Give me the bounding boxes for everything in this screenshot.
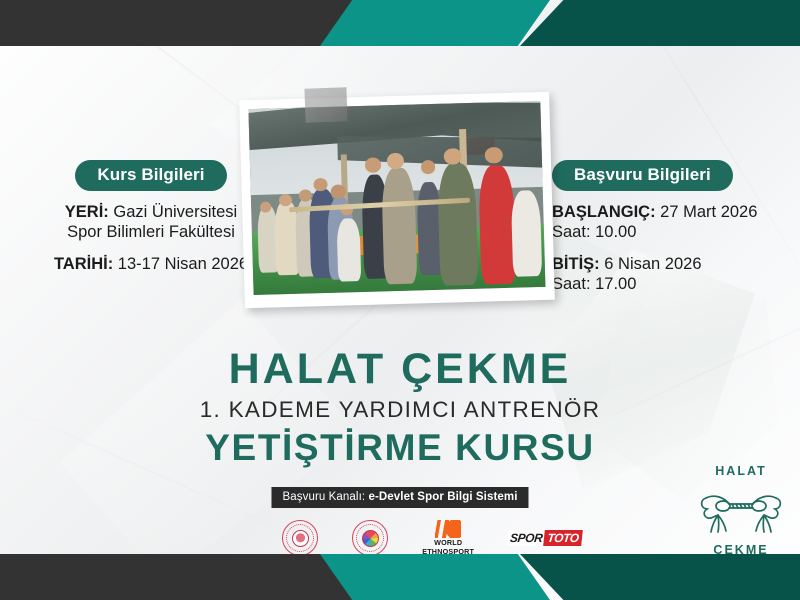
photo-person-head [387,153,404,169]
course-info-row: Spor Bilimleri Fakültesi [26,222,276,242]
photo-person [382,168,417,284]
course-info-row: TARİHİ: 13-17 Nisan 2026 [26,254,276,274]
application-info-value: Saat: 10.00 [552,223,636,241]
photo-person-head [331,185,346,199]
halat-cekme-emblem: HALAT ÇEKME [694,462,788,558]
ministry-logo-inner [292,530,309,547]
bar-segment-teal [320,0,550,46]
bar-segment-teal [320,554,550,600]
emblem-top-text: HALAT [694,464,788,478]
application-info-key: BAŞLANGIÇ: [552,203,656,221]
photo-person [478,165,516,285]
bottom-chevron-bar [0,554,800,600]
event-photo [248,101,545,295]
application-info-rows: BAŞLANGIÇ: 27 Mart 2026 Saat: 10.00 BİTİ… [552,202,800,295]
photo-tape [304,87,347,122]
rope-knot-icon [698,488,784,534]
photo-person-head [485,147,503,164]
page-title: HALAT ÇEKME [0,348,800,392]
course-info-badge: Kurs Bilgileri [75,160,226,191]
application-info-row: Saat: 10.00 [552,222,800,242]
ethnosport-comet-icon [435,520,461,538]
application-info-value: Saat: 17.00 [552,275,636,293]
title-third-line: YETİŞTİRME KURSU [0,428,800,467]
world-ethnosport-logo: WORLD ETHNOSPORT [422,520,474,555]
poster-root: Kurs Bilgileri YERİ: Gazi Üniversitesi S… [0,0,800,600]
course-info-row: YERİ: Gazi Üniversitesi [26,202,276,222]
application-info-value: 27 Mart 2026 [660,203,757,221]
photo-person [511,190,543,276]
application-info-row: BİTİŞ: 6 Nisan 2026 [552,254,800,274]
application-channel-bar: Başvuru Kanalı: e-Devlet Spor Bilgi Sist… [271,487,528,508]
course-info-value: Spor Bilimleri Fakültesi [67,223,235,241]
course-info-rows: YERİ: Gazi Üniversitesi Spor Bilimleri F… [26,202,276,274]
photo-person-head [365,158,381,173]
photo-person-head [421,160,436,174]
course-info-panel: Kurs Bilgileri YERİ: Gazi Üniversitesi S… [26,160,276,274]
course-info-value: Gazi Üniversitesi [113,203,237,221]
spacer [26,242,276,254]
application-info-row: BAŞLANGIÇ: 27 Mart 2026 [552,202,800,222]
bar-segment-teal-dark [520,554,800,600]
application-channel-label: Başvuru Kanalı: [282,491,365,503]
application-info-key: BİTİŞ: [552,255,600,273]
ethnosport-label-line1: WORLD [434,539,462,547]
spor-toto-label-b: TOTO [544,530,583,546]
federation-logo [352,520,388,556]
course-info-value: 13-17 Nisan 2026 [118,255,248,273]
bar-segment-teal-dark [520,0,800,46]
title-block: HALAT ÇEKME 1. KADEME YARDIMCI ANTRENÖR … [0,348,800,467]
application-channel-value: e-Devlet Spor Bilgi Sistemi [368,491,517,503]
spacer [552,242,800,254]
application-info-row: Saat: 17.00 [552,274,800,294]
photo-person [336,218,361,282]
application-info-value: 6 Nisan 2026 [604,255,701,273]
application-info-badge-wrap: Başvuru Bilgileri [552,160,800,191]
application-info-badge: Başvuru Bilgileri [552,160,733,191]
event-photo-frame [239,92,555,309]
title-subline: 1. KADEME YARDIMCI ANTRENÖR [0,392,800,428]
ministry-youth-sports-logo [282,520,318,556]
top-chevron-bar [0,0,800,46]
spor-toto-label-a: SPOR [507,530,545,546]
course-info-key: YERİ: [65,203,109,221]
federation-logo-inner [362,530,379,547]
photo-person-head [279,193,292,206]
course-info-badge-wrap: Kurs Bilgileri [26,160,276,191]
spor-toto-logo: SPOR TOTO [507,530,582,546]
application-info-panel: Başvuru Bilgileri BAŞLANGIÇ: 27 Mart 202… [552,160,800,294]
course-info-key: TARİHİ: [54,255,113,273]
photo-person [437,162,478,286]
